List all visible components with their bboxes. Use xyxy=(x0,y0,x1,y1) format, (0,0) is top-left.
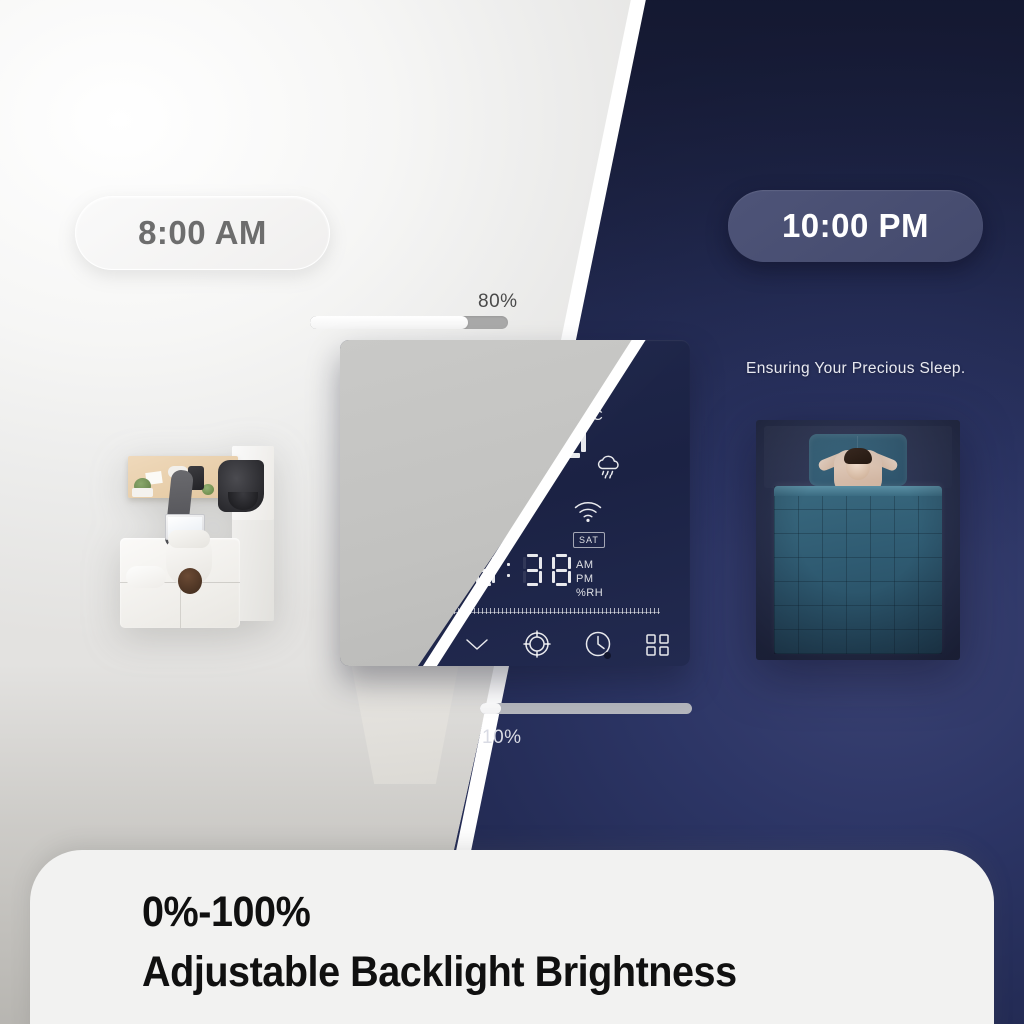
display-indicator-labels: AM PM %RH xyxy=(576,558,603,600)
night-tagline: Ensuring Your Precious Sleep. xyxy=(746,360,966,378)
nighttime-brightness-value: 10% xyxy=(482,727,522,749)
weekday-badge: SAT xyxy=(573,532,605,548)
indicator-pm: PM xyxy=(576,572,603,586)
indicator-rh: %RH xyxy=(576,586,603,600)
promo-image-stage: 8:00 AM 10:00 PM 80% 10% Ensuring Your P… xyxy=(0,0,1024,1024)
device-screen-panel: C xyxy=(340,340,690,666)
clock-digit-3 xyxy=(523,554,542,586)
caption-headline-range: 0%-100% xyxy=(142,886,926,938)
daytime-slider-track[interactable] xyxy=(310,316,508,329)
daytime-brightness-value: 80% xyxy=(478,291,518,313)
nighttime-slider-track[interactable] xyxy=(480,703,692,714)
wifi-icon xyxy=(573,500,603,529)
caption-headline-title: Adjustable Backlight Brightness xyxy=(142,944,926,1000)
daytime-clock-label: 8:00 AM xyxy=(138,214,267,252)
indicator-am: AM xyxy=(576,558,603,572)
nighttime-clock-badge: 10:00 PM xyxy=(728,190,983,262)
nighttime-bedroom-photo xyxy=(756,420,960,660)
device-sensor-dot xyxy=(604,652,611,659)
nighttime-brightness-slider[interactable] xyxy=(480,703,692,714)
menu-button[interactable] xyxy=(636,624,680,664)
daytime-clock-badge: 8:00 AM xyxy=(75,196,330,270)
daytime-workspace-photo xyxy=(106,430,282,630)
caption-card: 0%-100% Adjustable Backlight Brightness xyxy=(30,850,994,1024)
decrease-temperature-button[interactable] xyxy=(455,624,499,664)
rain-cloud-icon xyxy=(594,454,624,485)
smart-thermostat-device: C xyxy=(340,340,690,700)
nighttime-clock-label: 10:00 PM xyxy=(782,207,929,245)
timer-button[interactable] xyxy=(576,624,620,664)
clock-digit-8b xyxy=(552,554,571,586)
daytime-slider-fill xyxy=(310,316,468,329)
power-mode-button[interactable] xyxy=(515,624,559,664)
nighttime-slider-fill xyxy=(480,703,501,714)
daytime-brightness-slider[interactable] xyxy=(310,316,508,329)
clock-colon xyxy=(505,554,515,586)
